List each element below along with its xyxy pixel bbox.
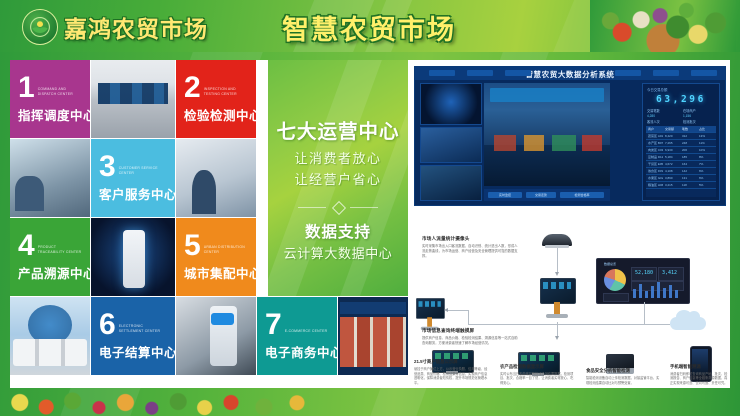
- cell-count: 312: [682, 134, 697, 138]
- caption-title: 农产品检测数据显示屏: [500, 364, 574, 370]
- cell-count: 164: [682, 162, 697, 166]
- caption-body: 消费者扫码即可查询商品产地、批次、检测报告、商户信息等全链条溯源数据，真正实现来…: [670, 372, 728, 386]
- caption-title: 手机端智能溯源: [670, 364, 728, 370]
- dashboard-tab[interactable]: [505, 70, 531, 76]
- call-center-photo: [176, 139, 256, 217]
- cell-amount: 3,215: [665, 183, 680, 187]
- cell-merchant: 水产区 B07: [648, 141, 663, 145]
- market-live-video-feed: [484, 83, 610, 186]
- dashboard-chip[interactable]: 检测合格率: [560, 192, 604, 198]
- center-english-label: INSPECTION AND TESTING CENTER: [204, 87, 250, 97]
- poster-body: 1 COMMAND AND DISPATCH CENTER 指挥调度中心 2 I…: [0, 52, 740, 416]
- arrow-down-icon: [555, 336, 559, 340]
- cell-amount: 3,890: [665, 176, 680, 180]
- cell-share: 6%: [699, 169, 714, 173]
- caption-title: 市场信息查询终端触摸屏: [422, 328, 518, 334]
- cell-share: 13%: [699, 134, 714, 138]
- center-english-label: CUSTOMER SERVICE CENTER: [119, 166, 169, 176]
- market-stall: [524, 135, 544, 151]
- merchant-transaction-table: 商户 交易额 笔数 占比 蔬菜区 A01 8,420 312 13%: [646, 126, 716, 197]
- table-row: 肉类区 C03 6,930 206 10%: [646, 147, 716, 154]
- dashboard-tab[interactable]: [429, 70, 455, 76]
- poster-root: 嘉鸿农贸市场 智慧农贸市场 1 COMMAND AND DISPATCH CEN…: [0, 0, 740, 416]
- connector-line: [558, 324, 670, 325]
- center-english-label: URBAN DISTRIBUTION CENTER: [204, 245, 250, 255]
- operation-centers-grid: 1 COMMAND AND DISPATCH CENTER 指挥调度中心 2 I…: [10, 60, 268, 388]
- market-stall: [582, 135, 602, 151]
- page-title: 智慧农贸市场: [282, 8, 456, 47]
- cell-merchant: 肉类区 C03: [648, 148, 663, 152]
- stat-key: 交易笔数: [647, 108, 660, 113]
- center-english-label: PRODUCT TRACEABILITY CENTER: [38, 245, 84, 255]
- center-label: 客户服务中心: [99, 184, 169, 203]
- center-english-label: E-COMMERCE CENTER: [285, 329, 328, 334]
- cell-count: 118: [682, 183, 697, 187]
- big-data-dashboard-screenshot[interactable]: 智慧农贸大数据分析系统: [414, 66, 726, 206]
- dashboard-tab[interactable]: [467, 70, 493, 76]
- market-banner: [490, 88, 604, 102]
- center-number: 2: [184, 75, 200, 100]
- center-label: 指挥调度中心: [18, 105, 84, 124]
- cell-merchant: 干货区 E05: [648, 162, 663, 166]
- center-english-label: ELECTRONIC SETTLEMENT CENTER: [119, 324, 169, 334]
- dashboard-left-column: [420, 83, 480, 201]
- cell-share: 5%: [699, 183, 714, 187]
- cell-merchant: 豆制品 D12: [648, 155, 663, 159]
- connector-line: [557, 248, 558, 274]
- center-number: 7: [265, 312, 281, 337]
- caption-body: 提供商户信息、商品价格、检验检测结果、溯源信息等一站式自助查询服务，方便消费者快…: [422, 336, 518, 346]
- ecommerce-screen-photo: [338, 297, 408, 375]
- self-service-kiosk-icon: [540, 278, 574, 320]
- cell-share: 8%: [699, 155, 714, 159]
- dashboard-bottom-bar: 实时监控 交易走势 检测合格率: [484, 189, 610, 201]
- stat-value: 4,280: [647, 114, 655, 118]
- connector-line: [468, 324, 558, 325]
- cell-merchant: 水果区 G02: [648, 176, 663, 180]
- center-label: 电子结算中心: [99, 342, 169, 361]
- table-col-header: 占比: [699, 127, 714, 131]
- cell-share: 7%: [699, 162, 714, 166]
- panel-subtitle-1: 让消费者放心: [268, 148, 408, 167]
- laboratory-photo: [10, 139, 90, 217]
- center-card-2[interactable]: 2 INSPECTION AND TESTING CENTER 检验检测中心: [176, 60, 256, 138]
- ceiling-camera-icon: [542, 234, 572, 246]
- table-row: 熟食区 F09 4,108 142 6%: [646, 168, 716, 175]
- vegetable-strip-image: [0, 386, 330, 416]
- bottom-caption-3: 食品安全分析智能检测 智能检测设备自动上传检测数据，对接监管平台，实现检测结果自…: [586, 368, 660, 386]
- panel-support-text: 云计算大数据中心: [268, 243, 408, 262]
- panel-support-title: 数据支持: [268, 220, 408, 242]
- market-floor: [484, 145, 610, 186]
- camera-feed-thumbnail: [420, 127, 482, 163]
- market-stall: [552, 135, 576, 151]
- market-stall: [494, 135, 516, 151]
- connector-line: [468, 310, 469, 324]
- right-panel: 智慧农贸大数据分析系统: [408, 60, 730, 388]
- table-row: 豆制品 D12 5,184 185 8%: [646, 154, 716, 161]
- content-card: 1 COMMAND AND DISPATCH CENTER 指挥调度中心 2 I…: [10, 60, 730, 388]
- cell-amount: 6,930: [665, 148, 680, 152]
- center-label: 检验检测中心: [184, 105, 250, 124]
- cell-share: 10%: [699, 148, 714, 152]
- center-card-5[interactable]: 5 URBAN DISTRIBUTION CENTER 城市集配中心: [176, 218, 256, 296]
- cell-count: 131: [682, 176, 697, 180]
- dashboard-stats-panel: 今日交易总额 63,296 交易笔数 4,280 在场商户 1,156 客流人次…: [642, 83, 720, 201]
- center-english-label: COMMAND AND DISPATCH CENTER: [38, 87, 84, 97]
- cell-amount: 8,420: [665, 134, 680, 138]
- total-transaction-amount: 63,296: [643, 94, 719, 105]
- table-row: 蔬菜区 A01 8,420 312 13%: [646, 133, 716, 140]
- big-data-monitor-icon: 数据总览 52,180 3,412: [596, 258, 688, 302]
- brand-logo: 嘉鸿农贸市场: [22, 9, 208, 45]
- caption-title: 21.5寸商户信息公示屏: [414, 359, 488, 365]
- panel-title: 七大运营中心: [268, 115, 408, 144]
- cell-share: 11%: [699, 141, 714, 145]
- caption-body: 悬挂于商户摊位上方，公示营业执照、信用等级、经营品类、商品价格、检测结果等信息，…: [414, 367, 488, 386]
- cell-merchant: 粮油区 H06: [648, 183, 663, 187]
- system-architecture-diagram: 市场人流量统计摄像头 实时采集市场出入口客流数据，自动识别、统计进出人数，形成人…: [408, 210, 730, 388]
- table-col-header: 交易额: [665, 127, 680, 131]
- caption-body: 实时公布当日农药残留等快速检测结果数据，检测项目、批次、合格率一目了然，让消费者…: [500, 372, 574, 386]
- table-col-header: 商户: [648, 127, 663, 131]
- center-card-1[interactable]: 1 COMMAND AND DISPATCH CENTER 指挥调度中心: [10, 60, 90, 138]
- center-number: 5: [184, 233, 200, 258]
- brand-name: 嘉鸿农贸市场: [64, 10, 208, 44]
- center-card-3[interactable]: 3 CUSTOMER SERVICE CENTER 客户服务中心: [91, 139, 175, 217]
- camera-caption: 市场人流量统计摄像头 实时采集市场出入口客流数据，自动识别、统计进出人数，形成人…: [422, 236, 520, 259]
- center-number: 3: [99, 154, 115, 179]
- table-row: 干货区 E05 4,672 164 7%: [646, 161, 716, 168]
- table-row: 水产区 B07 7,265 248 11%: [646, 140, 716, 147]
- page-header: 嘉鸿农贸市场 智慧农贸市场: [0, 0, 740, 52]
- bottom-caption-2: 农产品检测数据显示屏 实时公布当日农药残留等快速检测结果数据，检测项目、批次、合…: [500, 364, 574, 386]
- center-card-6[interactable]: 6 ELECTRONIC SETTLEMENT CENTER 电子结算中心: [91, 297, 175, 375]
- dashboard-tab[interactable]: [691, 70, 717, 76]
- cell-amount: 4,108: [665, 169, 680, 173]
- cell-count: 248: [682, 141, 697, 145]
- center-label: 城市集配中心: [184, 263, 250, 282]
- table-header-row: 商户 交易额 笔数 占比: [646, 126, 716, 133]
- dashboard-tab[interactable]: [653, 70, 679, 76]
- stats-panel-label: 今日交易总额: [647, 87, 667, 92]
- bottom-caption-1: 21.5寸商户信息公示屏 悬挂于商户摊位上方，公示营业执照、信用等级、经营品类、…: [414, 359, 488, 386]
- cell-count: 206: [682, 148, 697, 152]
- vegetable-basket-image: [590, 0, 736, 52]
- control-room-photo: [91, 60, 175, 138]
- cell-amount: 7,265: [665, 141, 680, 145]
- stat-key: 客流人次: [647, 119, 660, 124]
- logistics-truck-photo: [10, 297, 90, 375]
- connector-line: [448, 310, 468, 311]
- center-highlight-panel: 七大运营中心 让消费者放心 让经营户省心 数据支持 云计算大数据中心: [268, 60, 408, 296]
- dashboard-tab[interactable]: [615, 70, 641, 76]
- bottom-caption-4: 手机端智能溯源 消费者扫码即可查询商品产地、批次、检测报告、商户信息等全链条溯源…: [670, 364, 728, 386]
- caption-body: 实时采集市场出入口客流数据，自动识别、统计进出人数，形成人流走势曲线，为市场运营…: [422, 244, 520, 259]
- kiosk-caption: 市场信息查询终端触摸屏 提供商户信息、商品价格、检验检测结果、溯源信息等一站式自…: [422, 328, 518, 346]
- panel-subtitle-2: 让经营户省心: [268, 169, 408, 188]
- self-service-kiosk-icon: [416, 298, 443, 332]
- diamond-divider-icon: [298, 202, 378, 213]
- table-row: 粮油区 H06 3,215 118 5%: [646, 182, 716, 189]
- caption-body: 智能检测设备自动上传检测数据，对接监管平台，实现检测结果自动比对与预警处置。: [586, 376, 660, 386]
- center-card-7[interactable]: 7 E-COMMERCE CENTER 电子商务中心: [257, 297, 337, 375]
- mobile-payment-photo: [176, 297, 256, 375]
- cloud-server-icon: [670, 308, 706, 330]
- table-row: 水果区 G02 3,890 131 6%: [646, 175, 716, 182]
- radar-visual-widget: [420, 83, 482, 125]
- traceability-phone-photo: [91, 218, 175, 296]
- center-label: 电子商务中心: [265, 342, 331, 361]
- center-number: 6: [99, 312, 115, 337]
- cell-amount: 4,672: [665, 162, 680, 166]
- leaf-circle-logo-icon: [22, 9, 58, 45]
- center-label: 产品溯源中心: [18, 263, 84, 282]
- dashboard-chip[interactable]: 交易走势: [526, 192, 556, 198]
- cell-merchant: 蔬菜区 A01: [648, 134, 663, 138]
- monitor-label: 数据总览: [604, 262, 616, 266]
- pie-chart: [604, 269, 626, 291]
- center-card-4[interactable]: 4 PRODUCT TRACEABILITY CENTER 产品溯源中心: [10, 218, 90, 296]
- stat-value: 1,156: [683, 114, 691, 118]
- caption-title: 食品安全分析智能检测: [586, 368, 660, 374]
- camera-feed-thumbnail: [420, 165, 482, 201]
- center-number: 4: [18, 233, 34, 258]
- cell-share: 6%: [699, 176, 714, 180]
- arrow-left-icon: [444, 308, 448, 312]
- cell-merchant: 熟食区 F09: [648, 169, 663, 173]
- cell-amount: 5,184: [665, 155, 680, 159]
- cell-count: 142: [682, 169, 697, 173]
- table-col-header: 笔数: [682, 127, 697, 131]
- stat-key: 在场商户: [683, 108, 696, 113]
- arrow-down-icon: [555, 272, 559, 276]
- center-number: 1: [18, 75, 34, 100]
- stat-key: 检测批次: [683, 119, 696, 124]
- cell-count: 185: [682, 155, 697, 159]
- caption-title: 市场人流量统计摄像头: [422, 236, 520, 242]
- connector-line: [644, 302, 645, 324]
- dashboard-chip[interactable]: 实时监控: [488, 192, 522, 198]
